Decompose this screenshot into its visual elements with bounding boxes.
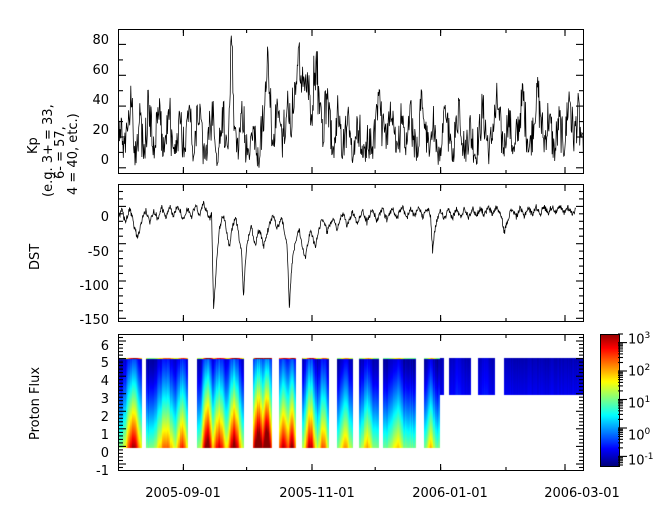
cbar-label-1em1: 10-1 <box>628 452 654 468</box>
flux-ytick-3: 3 <box>78 392 109 407</box>
dst-ytick-m50: -50 <box>62 245 109 260</box>
dst-ytick-m150: -150 <box>62 313 109 328</box>
cbar-label-1e0: 100 <box>628 427 650 443</box>
dst-series-svg <box>118 184 584 322</box>
flux-ytick-0: 0 <box>78 446 109 461</box>
kp-ytick-0: 0 <box>75 153 109 168</box>
cbar-exponent-1e1: 1 <box>645 395 651 405</box>
xtick-2005-09-01: 2005-09-01 <box>133 486 233 501</box>
cbar-mantissa-1e1: 10 <box>628 396 645 411</box>
cbar-mantissa-1e3: 10 <box>628 332 645 347</box>
kp-ylabel-group: Kp (e.g. 3+ = 33, 6- = 57, 4 = 40, etc.) <box>0 29 70 174</box>
flux-ytick-4: 4 <box>78 374 109 389</box>
colorbar-gradient <box>600 334 620 467</box>
cbar-mantissa-1e0: 10 <box>628 428 645 443</box>
proton-flux-heatmap <box>119 335 583 470</box>
kp-axis-label-main: Kp <box>26 137 41 154</box>
kp-series-svg <box>118 29 584 174</box>
dst-ytick-0: 0 <box>62 210 109 225</box>
xtick-2005-11-01: 2005-11-01 <box>267 486 367 501</box>
cbar-mantissa-1e2: 10 <box>628 364 645 379</box>
cbar-label-1e1: 101 <box>628 395 650 411</box>
kp-ytick-40: 40 <box>75 93 109 108</box>
flux-ytick-m1: -1 <box>78 464 109 479</box>
dst-axis-label: DST <box>28 244 43 270</box>
flux-ytick-5: 5 <box>78 356 109 371</box>
kp-ytick-60: 60 <box>75 63 109 78</box>
kp-ytick-20: 20 <box>75 123 109 138</box>
flux-ytick-6: 6 <box>78 339 109 354</box>
flux-ytick-2: 2 <box>78 410 109 425</box>
dst-ytick-m100: -100 <box>62 279 109 294</box>
cbar-label-1e3: 103 <box>628 331 650 347</box>
cbar-exponent-1e0: 0 <box>645 427 651 437</box>
cbar-label-1e2: 102 <box>628 363 650 379</box>
cbar-exponent-1e2: 2 <box>645 363 651 373</box>
cbar-exponent-1e3: 3 <box>645 331 651 341</box>
cbar-mantissa-1em1: 10 <box>628 453 645 468</box>
flux-ytick-1: 1 <box>78 428 109 443</box>
kp-ytick-80: 80 <box>75 33 109 48</box>
cbar-exponent-1em1: -1 <box>645 452 654 462</box>
xtick-2006-03-01: 2006-03-01 <box>532 486 632 501</box>
flux-axis-label: Proton Flux <box>28 367 43 440</box>
xtick-2006-01-01: 2006-01-01 <box>400 486 500 501</box>
